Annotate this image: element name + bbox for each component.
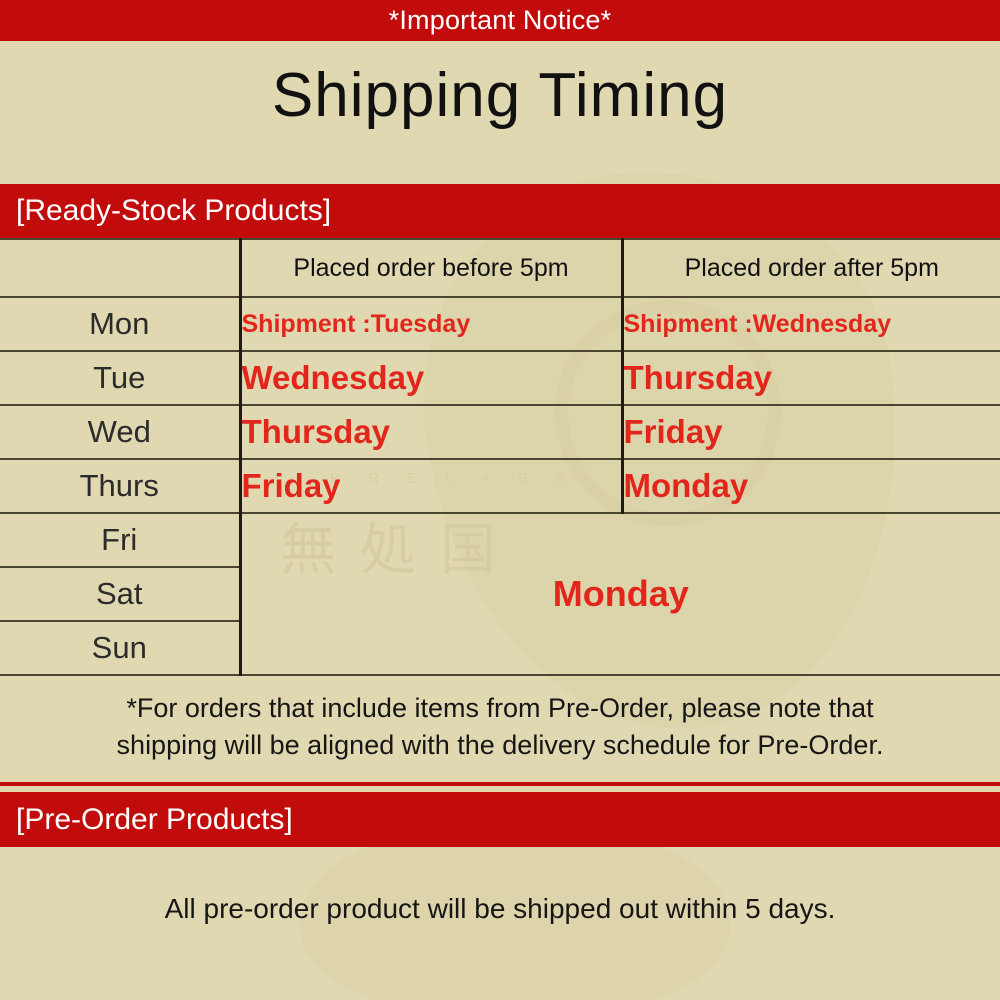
table-header-row: Placed order before 5pm Placed order aft… [0,239,1000,297]
row-day-tue: Tue [0,351,240,405]
table-row: Thurs Friday Monday [0,459,1000,513]
column-header-day [0,239,240,297]
table-row: Tue Wednesday Thursday [0,351,1000,405]
shipping-schedule-table: Placed order before 5pm Placed order aft… [0,238,1000,676]
cell-tue-before: Wednesday [240,351,622,405]
cell-thurs-after: Monday [622,459,1000,513]
cell-thurs-before: Friday [240,459,622,513]
cell-weekend-shipment: Monday [240,513,1000,675]
important-notice-label: *Important Notice* [389,5,612,36]
cell-tue-after: Thursday [622,351,1000,405]
important-notice-banner: *Important Notice* [0,0,1000,41]
section-header-ready-stock-label: [Ready-Stock Products] [16,194,331,228]
column-header-after-5pm: Placed order after 5pm [622,239,1000,297]
row-day-thurs: Thurs [0,459,240,513]
cell-mon-before: Shipment :Tuesday [240,297,622,351]
pre-order-note: *For orders that include items from Pre-… [0,690,1000,763]
cell-wed-before: Thursday [240,405,622,459]
pre-order-note-line-2: shipping will be aligned with the delive… [38,727,962,764]
section-header-ready-stock: [Ready-Stock Products] [0,184,1000,238]
row-day-fri: Fri [0,513,240,567]
pre-order-body-text: All pre-order product will be shipped ou… [0,893,1000,925]
schedule-table-head: Placed order before 5pm Placed order aft… [0,239,1000,297]
row-day-sat: Sat [0,567,240,621]
table-row: Fri Monday [0,513,1000,567]
section-divider-rule [0,782,1000,786]
schedule-table-body: Mon Shipment :Tuesday Shipment :Wednesda… [0,297,1000,675]
notice-page: B R E L A B S 無処国 . . . . *Important Not… [0,0,1000,1000]
row-day-wed: Wed [0,405,240,459]
cell-mon-after: Shipment :Wednesday [622,297,1000,351]
cell-wed-after: Friday [622,405,1000,459]
row-day-sun: Sun [0,621,240,675]
table-row: Wed Thursday Friday [0,405,1000,459]
section-header-pre-order: [Pre-Order Products] [0,792,1000,847]
row-day-mon: Mon [0,297,240,351]
page-title: Shipping Timing [0,60,1000,131]
column-header-before-5pm: Placed order before 5pm [240,239,622,297]
section-header-pre-order-label: [Pre-Order Products] [16,803,293,837]
pre-order-note-line-1: *For orders that include items from Pre-… [38,690,962,727]
table-row: Mon Shipment :Tuesday Shipment :Wednesda… [0,297,1000,351]
